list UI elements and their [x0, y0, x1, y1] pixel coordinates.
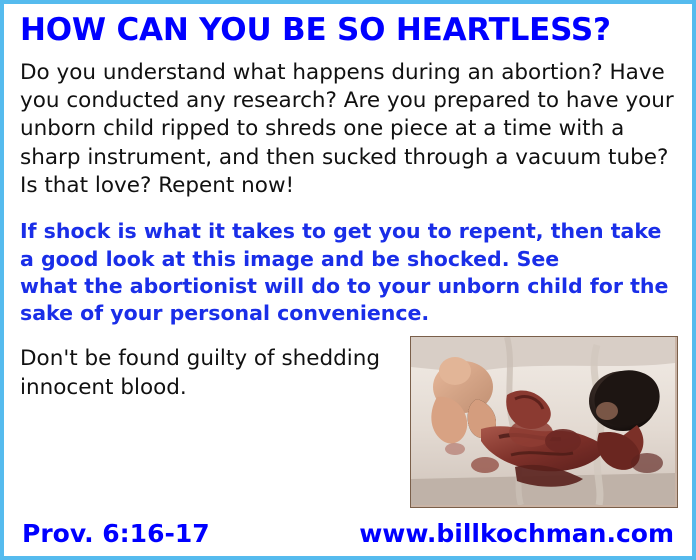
graphic-photo-image — [410, 336, 678, 508]
scripture-reference: Prov. 6:16-17 — [22, 519, 210, 548]
poster-footer: Prov. 6:16-17 www.billkochman.com — [20, 519, 678, 548]
paragraph-shock-wide: If shock is what it takes to get you to … — [20, 218, 678, 273]
paragraph-guilt: Don't be found guilty of shedding innoce… — [20, 345, 420, 402]
page-title: HOW CAN YOU BE SO HEARTLESS? — [20, 14, 678, 47]
poster-inner: HOW CAN YOU BE SO HEARTLESS? Do you unde… — [20, 14, 678, 548]
paragraph-shock-narrow: what the abortionist will do to your unb… — [20, 273, 678, 328]
blue-text-block: If shock is what it takes to get you to … — [20, 218, 678, 327]
poster-container: HOW CAN YOU BE SO HEARTLESS? Do you unde… — [0, 0, 696, 560]
website-url[interactable]: www.billkochman.com — [359, 519, 674, 548]
paragraph-question: Do you understand what happens during an… — [20, 59, 678, 201]
